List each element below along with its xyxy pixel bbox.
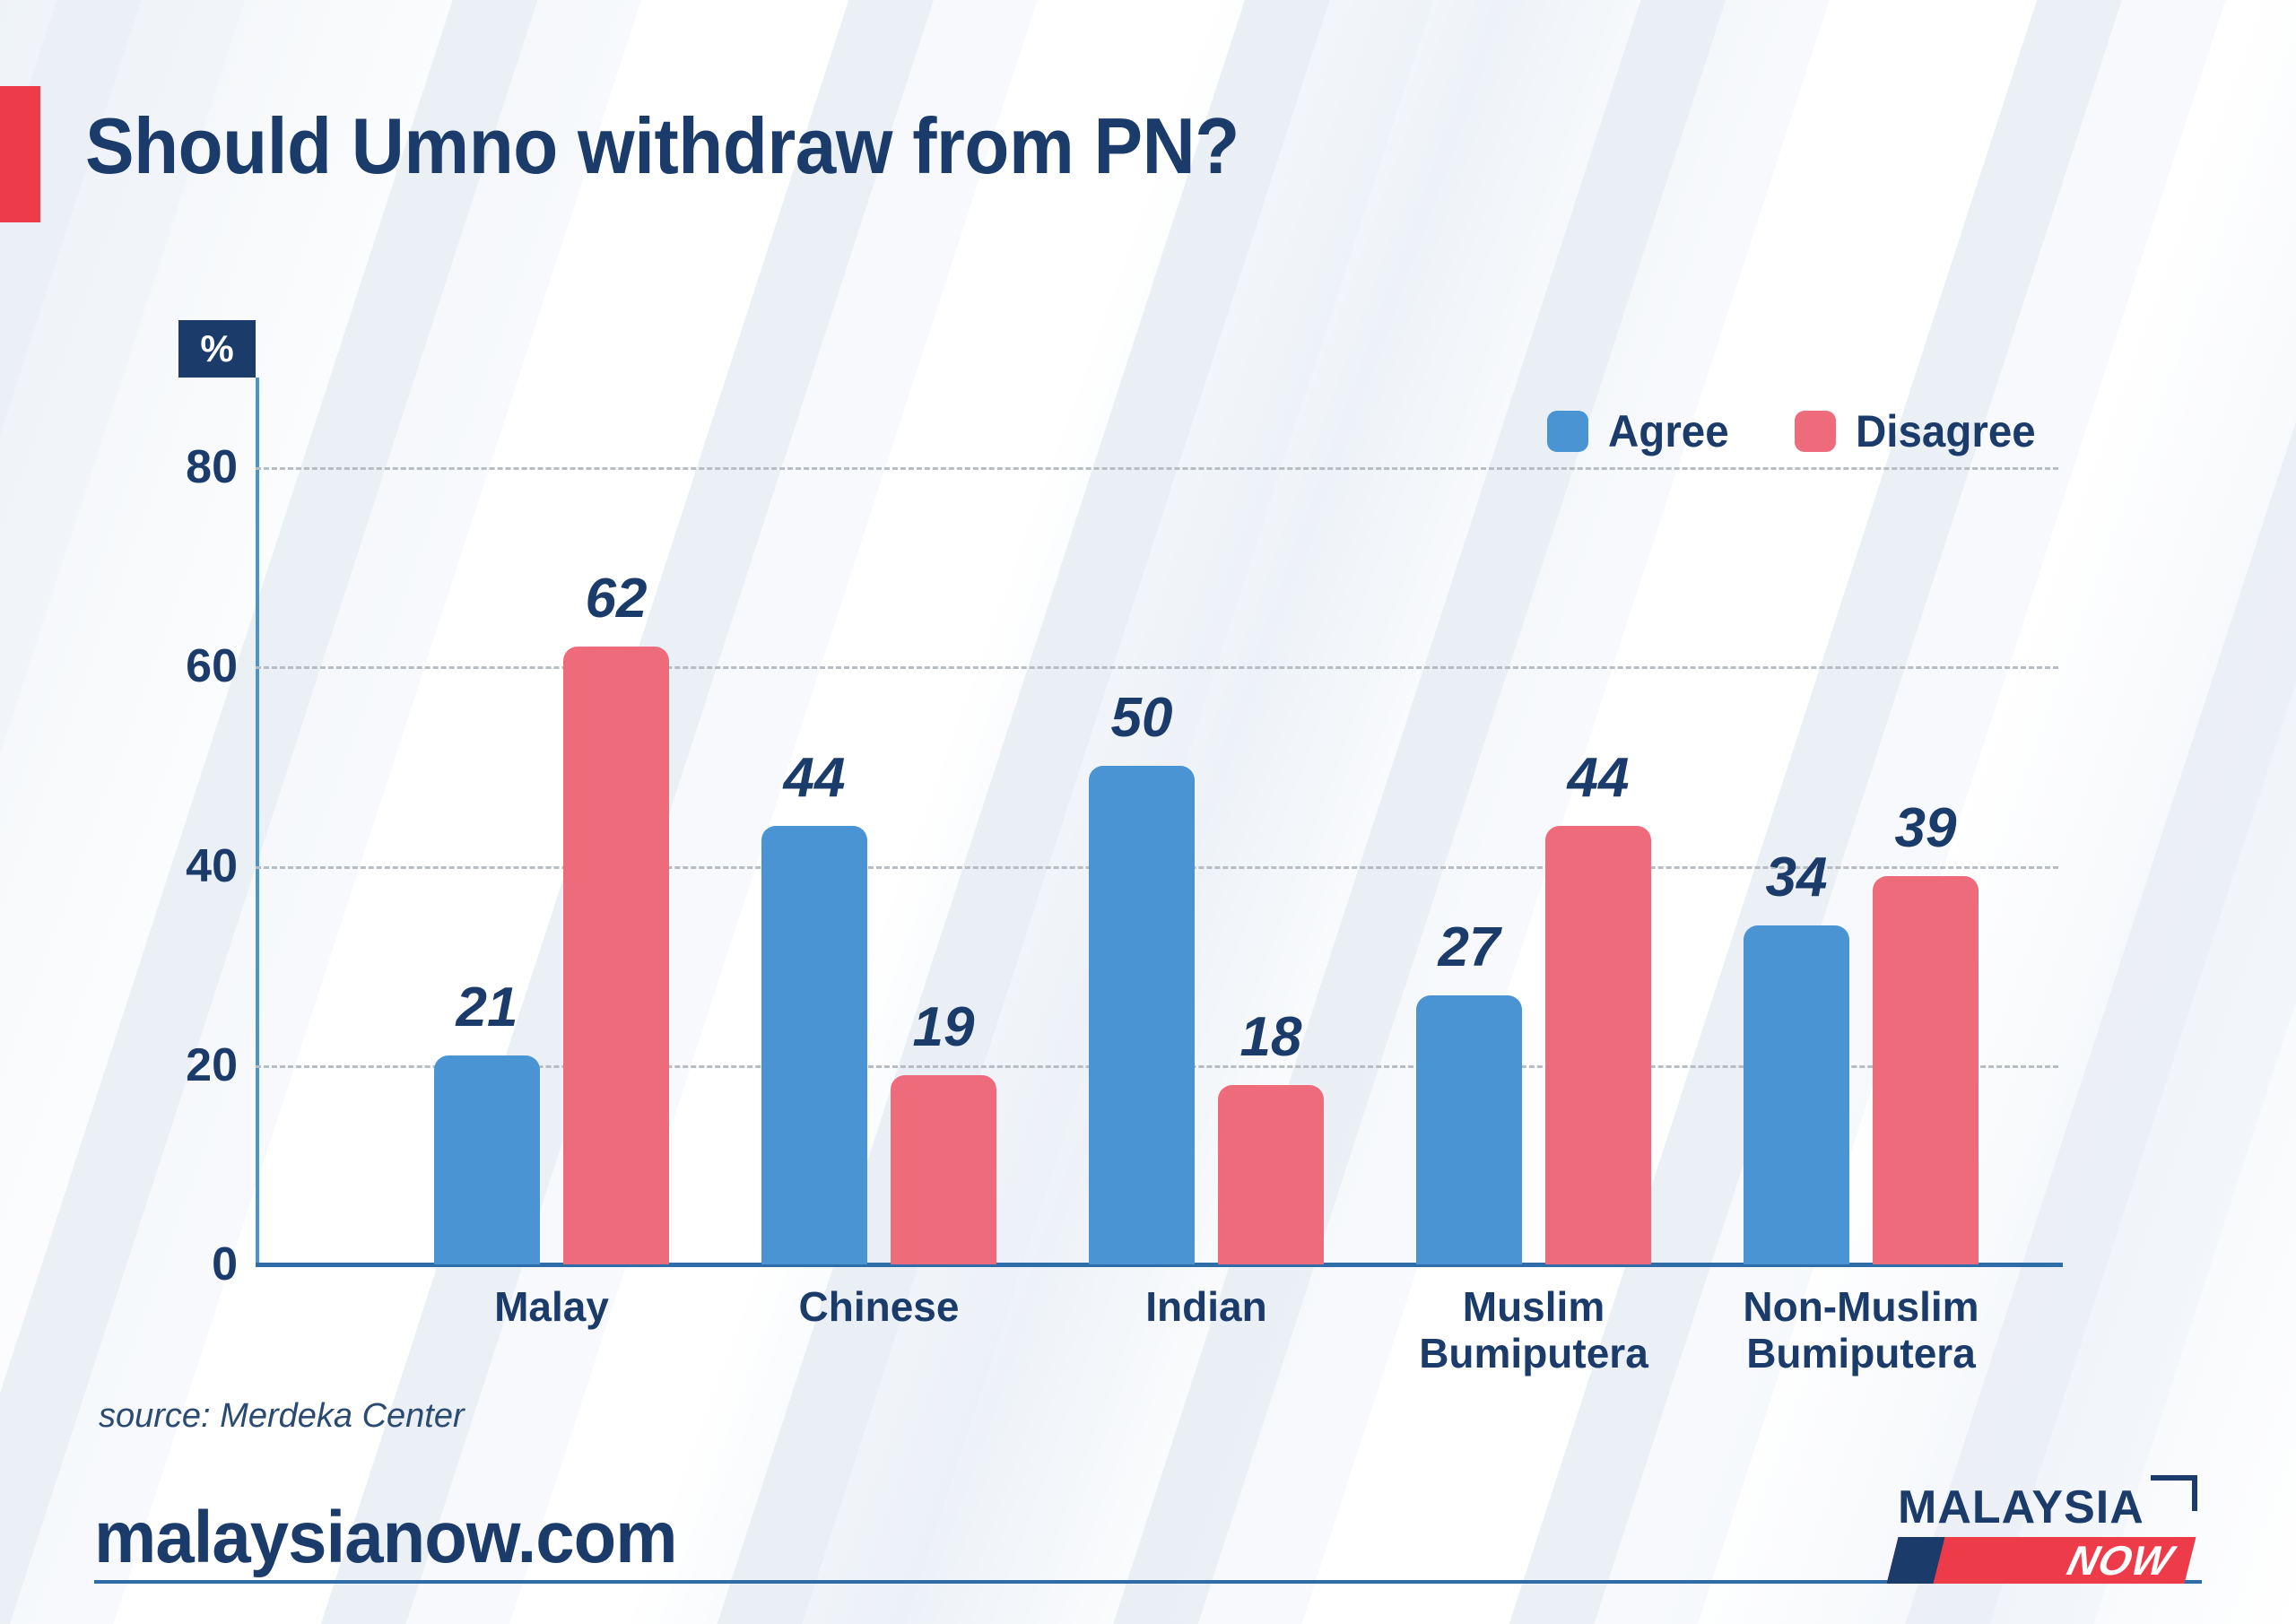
source-note: source: Merdeka Center	[99, 1397, 465, 1436]
bar-rect	[1089, 766, 1195, 1264]
bar-disagree-4[interactable]: 39	[1873, 368, 1979, 1264]
footer-divider	[94, 1580, 2202, 1584]
plot-area: 020406080 21624419501827443439	[256, 368, 2058, 1264]
bar-value-label: 19	[913, 995, 975, 1059]
bar-rect	[1873, 876, 1979, 1264]
bar-value-label: 44	[784, 746, 846, 810]
bar-group-3: 2744	[1416, 368, 1651, 1264]
bar-value-label: 27	[1439, 916, 1500, 979]
title-accent-bar	[0, 86, 40, 222]
bar-groups: 21624419501827443439	[256, 368, 2058, 1264]
bar-disagree-0[interactable]: 62	[563, 368, 669, 1264]
y-tick-label-20: 20	[186, 1038, 238, 1092]
bar-value-label: 62	[586, 567, 648, 630]
site-url[interactable]: malaysianow.com	[94, 1496, 677, 1580]
bar-group-2: 5018	[1089, 368, 1324, 1264]
x-axis-label-line: Bumiputera	[1628, 1331, 2094, 1377]
bar-rect	[1744, 925, 1849, 1264]
bar-value-label: 18	[1240, 1005, 1302, 1069]
y-tick-label-80: 80	[186, 440, 238, 494]
bar-value-label: 39	[1895, 796, 1957, 860]
bar-group-0: 2162	[434, 368, 669, 1264]
bar-disagree-3[interactable]: 44	[1545, 368, 1651, 1264]
bar-rect	[761, 826, 867, 1264]
bar-rect	[1218, 1085, 1324, 1264]
bar-value-label: 44	[1568, 746, 1630, 810]
bar-rect	[563, 647, 669, 1264]
infographic-canvas: Should Umno withdraw from PN? AgreeDisag…	[0, 0, 2296, 1624]
y-tick-label-0: 0	[212, 1238, 238, 1291]
bar-agree-0[interactable]: 21	[434, 368, 540, 1264]
bar-rect	[434, 1055, 540, 1264]
bar-agree-2[interactable]: 50	[1089, 368, 1195, 1264]
bar-rect	[1545, 826, 1651, 1264]
bar-value-label: 34	[1766, 846, 1828, 909]
bar-agree-3[interactable]: 27	[1416, 368, 1522, 1264]
bar-rect	[1416, 995, 1522, 1264]
bar-group-1: 4419	[761, 368, 996, 1264]
bar-group-4: 3439	[1744, 368, 1979, 1264]
page-title: Should Umno withdraw from PN?	[85, 100, 1239, 192]
bar-agree-1[interactable]: 44	[761, 368, 867, 1264]
malaysianow-logo[interactable]: MALAYSIA NOW	[1892, 1484, 2197, 1578]
bar-value-label: 50	[1111, 686, 1173, 750]
y-tick-label-60: 60	[186, 639, 238, 693]
x-axis-label-line: Non-Muslim	[1628, 1284, 2094, 1331]
y-tick-label-40: 40	[186, 839, 238, 893]
bar-rect	[891, 1075, 996, 1264]
logo-wordmark-bottom: NOW	[2063, 1537, 2179, 1584]
bar-disagree-1[interactable]: 19	[891, 368, 996, 1264]
logo-banner: NOW	[1887, 1537, 2196, 1584]
y-axis-unit-badge: %	[178, 320, 256, 378]
x-axis-label-4: Non-MuslimBumiputera	[1628, 1284, 2094, 1376]
logo-bracket-icon	[2151, 1475, 2197, 1511]
bar-agree-4[interactable]: 34	[1744, 368, 1849, 1264]
bar-disagree-2[interactable]: 18	[1218, 368, 1324, 1264]
bar-value-label: 21	[457, 976, 518, 1039]
